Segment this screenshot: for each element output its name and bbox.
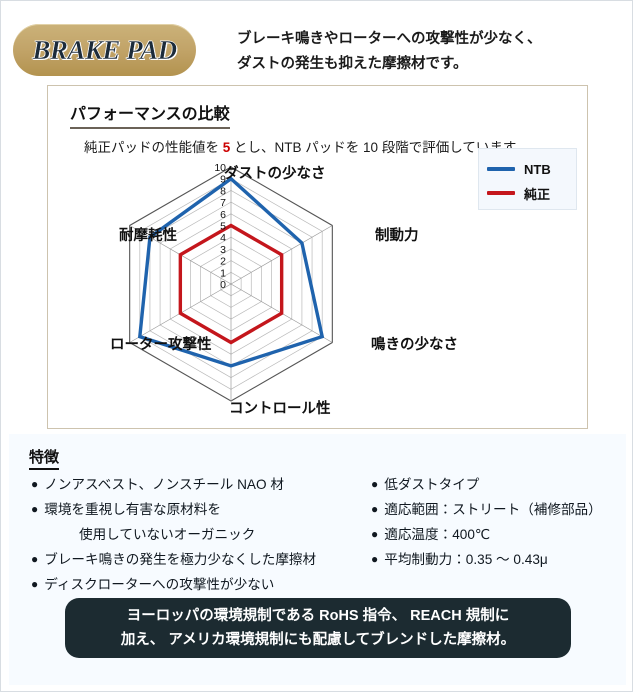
feature-text: 平均制動力：0.35 ～ 0.43μ — [384, 547, 547, 572]
performance-panel-note: 純正パッドの性能値を 5 とし、NTB パッドを 10 段階で評価しています。 — [84, 136, 529, 156]
performance-comparison-panel: パフォーマンスの比較 純正パッドの性能値を 5 とし、NTB パッドを 10 段… — [47, 85, 588, 429]
compliance-banner-line-1: ヨーロッパの環境規制である RoHS 指令、 REACH 規制に — [127, 604, 510, 628]
svg-text:2: 2 — [220, 256, 226, 268]
feature-item: ● ノンアスベスト、ノンスチール NAO 材 — [31, 472, 371, 497]
feature-text: 低ダストタイプ — [384, 472, 479, 497]
svg-text:1: 1 — [220, 267, 226, 279]
legend-swatch-genuine — [487, 191, 515, 195]
feature-text: ブレーキ鳴きの発生を極力少なくした摩擦材 — [44, 547, 316, 572]
compliance-banner: ヨーロッパの環境規制である RoHS 指令、 REACH 規制に 加え、 アメリ… — [65, 598, 571, 658]
brake-pad-logo-text: BRAKE PAD — [32, 35, 176, 66]
axis-label-wear-resistance: 耐摩耗性 — [119, 224, 177, 245]
feature-item: ● 適応温度：400℃ — [371, 522, 626, 547]
feature-text: 適応範囲：ストリート（補修部品） — [384, 497, 602, 522]
svg-text:5: 5 — [220, 221, 226, 233]
bullet-icon: ● — [31, 572, 38, 597]
legend-label-genuine: 純正 — [524, 184, 550, 203]
performance-panel-title: パフォーマンスの比較 — [70, 100, 230, 129]
feature-item: ● 低ダストタイプ — [371, 472, 626, 497]
axis-label-braking: 制動力 — [375, 224, 419, 245]
feature-item: ● ブレーキ鳴きの発生を極力少なくした摩擦材 — [31, 547, 371, 572]
feature-text: 適応温度：400℃ — [384, 522, 490, 547]
chart-legend: NTB 純正 — [478, 148, 577, 210]
note-text-before: 純正パッドの性能値を — [84, 140, 223, 155]
header-tagline: ブレーキ鳴きやローターへの攻撃性が少なく、 ダストの発生も抑えた摩擦材です。 — [237, 27, 617, 77]
axis-label-rotor-attack: ローター攻撃性 — [110, 333, 212, 354]
feature-item: ● 環境を重視し有害な原材料を — [31, 497, 371, 522]
svg-text:4: 4 — [220, 232, 226, 244]
axis-label-low-noise: 鳴きの少なさ — [371, 333, 458, 354]
bullet-icon: ● — [31, 472, 38, 497]
svg-text:7: 7 — [220, 197, 226, 209]
features-column-right: ● 低ダストタイプ ● 適応範囲：ストリート（補修部品） ● 適応温度：400℃… — [371, 472, 626, 572]
feature-item: ● 適応範囲：ストリート（補修部品） — [371, 497, 626, 522]
feature-text: ノンアスベスト、ノンスチール NAO 材 — [44, 472, 284, 497]
legend-swatch-ntb — [487, 167, 515, 171]
feature-item: ● 平均制動力：0.35 ～ 0.43μ — [371, 547, 626, 572]
legend-item-ntb: NTB — [487, 159, 551, 179]
legend-label-ntb: NTB — [524, 162, 551, 177]
feature-text-continuation: 使用していないオーガニック — [31, 522, 371, 547]
feature-text: ディスクローターへの攻撃性が少ない — [44, 572, 274, 597]
product-sheet: BRAKE PAD ブレーキ鳴きやローターへの攻撃性が少なく、 ダストの発生も抑… — [0, 0, 633, 692]
header: BRAKE PAD ブレーキ鳴きやローターへの攻撃性が少なく、 ダストの発生も抑… — [1, 1, 633, 83]
axis-label-controllability: コントロール性 — [229, 397, 331, 418]
compliance-banner-line-2: 加え、 アメリカ環境規制にも配慮してブレンドした摩擦材。 — [121, 628, 515, 652]
bullet-icon: ● — [371, 472, 378, 497]
bullet-icon: ● — [371, 547, 378, 572]
axis-label-dust: ダストの少なさ — [224, 162, 326, 183]
svg-text:6: 6 — [220, 209, 226, 221]
feature-text: 環境を重視し有害な原材料を — [44, 497, 221, 522]
features-title: 特徴 — [29, 446, 59, 470]
svg-text:0: 0 — [220, 279, 226, 291]
legend-item-genuine: 純正 — [487, 183, 550, 203]
bullet-icon: ● — [371, 522, 378, 547]
bullet-icon: ● — [31, 497, 38, 522]
tagline-line-2: ダストの発生も抑えた摩擦材です。 — [237, 52, 617, 77]
features-column-left: ● ノンアスベスト、ノンスチール NAO 材 ● 環境を重視し有害な原材料を 使… — [31, 472, 371, 597]
tagline-line-1: ブレーキ鳴きやローターへの攻撃性が少なく、 — [237, 27, 617, 52]
bullet-icon: ● — [31, 547, 38, 572]
feature-item: ● ディスクローターへの攻撃性が少ない — [31, 572, 371, 597]
brake-pad-logo: BRAKE PAD — [13, 24, 196, 76]
bullet-icon: ● — [371, 497, 378, 522]
svg-text:3: 3 — [220, 244, 226, 256]
svg-text:8: 8 — [220, 185, 226, 197]
radar-tick-labels: 109876543210 — [214, 164, 226, 291]
